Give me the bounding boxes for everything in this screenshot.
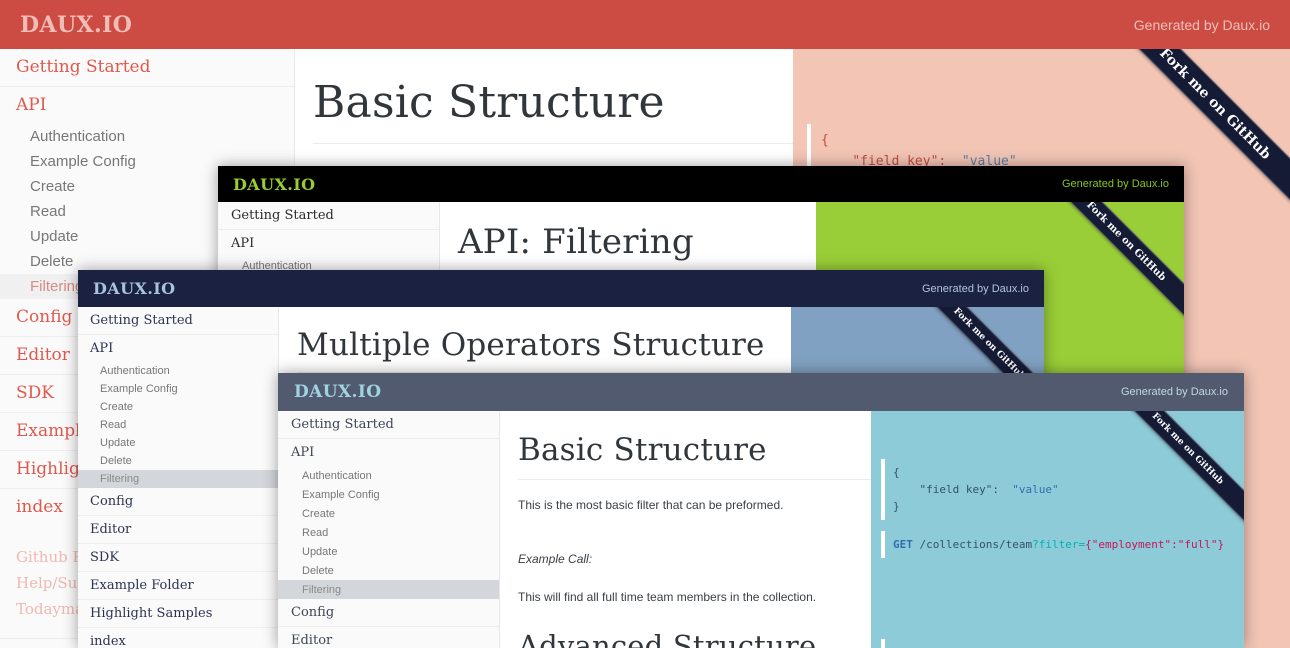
sidebar-item-update[interactable]: Update — [78, 434, 278, 452]
sidebar-item-getting-started[interactable]: Getting Started — [218, 202, 439, 230]
brand-logo[interactable]: DAUX.IO — [20, 12, 132, 38]
sidebar-item-api[interactable]: API — [218, 230, 439, 257]
generated-by-label: Generated by Daux.io — [1062, 178, 1169, 190]
sidebar-item-api[interactable]: API — [278, 439, 499, 466]
brand-logo[interactable]: DAUX.IO — [294, 382, 381, 402]
generated-by-label: Generated by Daux.io — [922, 283, 1029, 295]
code-http-query: ?filter= — [1032, 538, 1085, 551]
sidebar-item-authentication[interactable]: Authentication — [78, 362, 278, 380]
sidebar-item-delete[interactable]: Delete — [78, 452, 278, 470]
sidebar-item-api[interactable]: API — [0, 87, 294, 124]
sidebar[interactable]: Getting Started API Authentication Examp… — [78, 307, 279, 648]
brand-logo[interactable]: DAUX.IO — [93, 279, 175, 298]
sidebar-item-getting-started[interactable]: Getting Started — [0, 49, 294, 87]
sidebar-item-api[interactable]: API — [78, 335, 278, 362]
code-http-path: /collections/team — [913, 538, 1032, 551]
sidebar-item-read[interactable]: Read — [278, 523, 499, 542]
window-slate-cyan[interactable]: DAUX.IO Generated by Daux.io Getting Sta… — [278, 373, 1244, 648]
sidebar-item-getting-started[interactable]: Getting Started — [78, 307, 278, 335]
sidebar-item-read[interactable]: Read — [78, 416, 278, 434]
code-http-value: {"employment":"full"} — [1085, 538, 1224, 551]
sidebar-item-highlight-samples[interactable]: Highlight Samples — [78, 600, 278, 628]
sidebar-item-delete[interactable]: Delete — [278, 561, 499, 580]
sidebar-item-getting-started[interactable]: Getting Started — [278, 411, 499, 439]
sidebar-item-authentication[interactable]: Authentication — [278, 466, 499, 485]
sidebar-item-example-config[interactable]: Example Config — [78, 380, 278, 398]
window-navy-header: DAUX.IO Generated by Daux.io — [78, 270, 1044, 307]
window-red-header: DAUX.IO Generated by Daux.io — [0, 0, 1290, 49]
sidebar-item-filtering[interactable]: Filtering — [278, 580, 499, 599]
window-slate-header: DAUX.IO Generated by Daux.io — [278, 373, 1244, 411]
sidebar-item-create[interactable]: Create — [278, 504, 499, 523]
code-block-advanced: { — [881, 639, 1214, 648]
sidebar-item-index[interactable]: index — [78, 628, 278, 648]
code-key: "field key" — [920, 483, 993, 496]
sidebar-item-editor[interactable]: Editor — [78, 516, 278, 544]
window-black-header: DAUX.IO Generated by Daux.io — [218, 166, 1184, 202]
brand-logo[interactable]: DAUX.IO — [233, 175, 315, 194]
sidebar-item-config[interactable]: Config — [278, 599, 499, 627]
generated-by-label: Generated by Daux.io — [1134, 17, 1270, 33]
code-block-request: GET /collections/team?filter={"employmen… — [881, 531, 1234, 558]
window-slate-body: Getting Started API Authentication Examp… — [278, 411, 1244, 648]
sidebar-item-sdk[interactable]: SDK — [78, 544, 278, 572]
sidebar-item-editor[interactable]: Editor — [278, 627, 499, 648]
sidebar-item-example-config[interactable]: Example Config — [278, 485, 499, 504]
code-block-json: { "field key": "value" } — [881, 459, 1214, 520]
sidebar-item-filtering[interactable]: Filtering — [78, 470, 278, 488]
sidebar-item-config[interactable]: Config — [78, 488, 278, 516]
sidebar-item-create[interactable]: Create — [78, 398, 278, 416]
sidebar-item-example-folder[interactable]: Example Folder — [78, 572, 278, 600]
sidebar-item-authentication[interactable]: Authentication — [0, 124, 294, 149]
code-string: "value" — [1012, 483, 1058, 496]
generated-by-label: Generated by Daux.io — [1121, 386, 1228, 398]
main-content: Basic Structure This is the most basic f… — [500, 411, 1244, 648]
sidebar[interactable]: Getting Started API Authentication Examp… — [278, 411, 500, 648]
sidebar-item-update[interactable]: Update — [278, 542, 499, 561]
code-http-method: GET — [893, 538, 913, 551]
